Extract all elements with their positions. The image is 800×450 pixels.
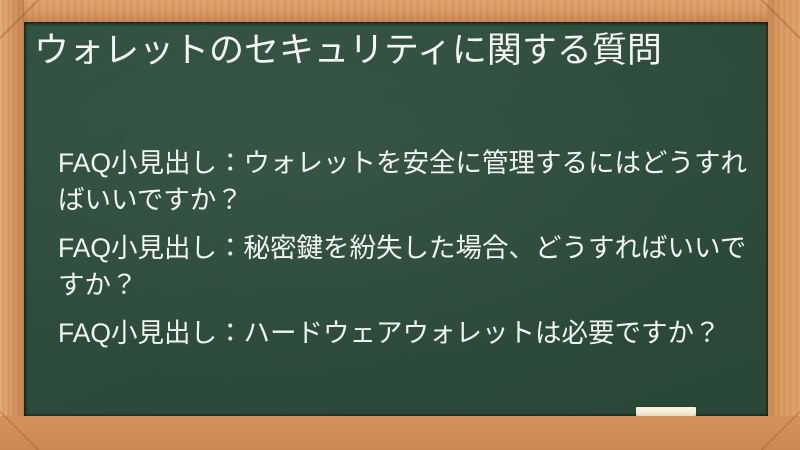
page-title: ウォレットのセキュリティに関する質問	[34, 28, 760, 74]
faq-item: FAQ小見出し：ウォレットを安全に管理するにはどうすればいいですか？	[58, 145, 750, 219]
faq-item: FAQ小見出し：秘密鍵を紛失した場合、どうすればいいですか？	[58, 230, 750, 304]
frame-bottom-ledge	[0, 416, 800, 450]
chalkboard-slide: ウォレットのセキュリティに関する質問 FAQ小見出し：ウォレットを安全に管理する…	[0, 0, 800, 450]
chalk-stick-icon	[636, 407, 696, 416]
frame-right-rail	[768, 0, 800, 450]
faq-list: FAQ小見出し：ウォレットを安全に管理するにはどうすればいいですか？ FAQ小見…	[58, 145, 750, 352]
faq-item: FAQ小見出し：ハードウェアウォレットは必要ですか？	[58, 315, 750, 352]
blackboard-surface: ウォレットのセキュリティに関する質問 FAQ小見出し：ウォレットを安全に管理する…	[24, 22, 768, 416]
frame-left-rail	[0, 0, 24, 450]
frame-top-rail	[0, 0, 800, 22]
